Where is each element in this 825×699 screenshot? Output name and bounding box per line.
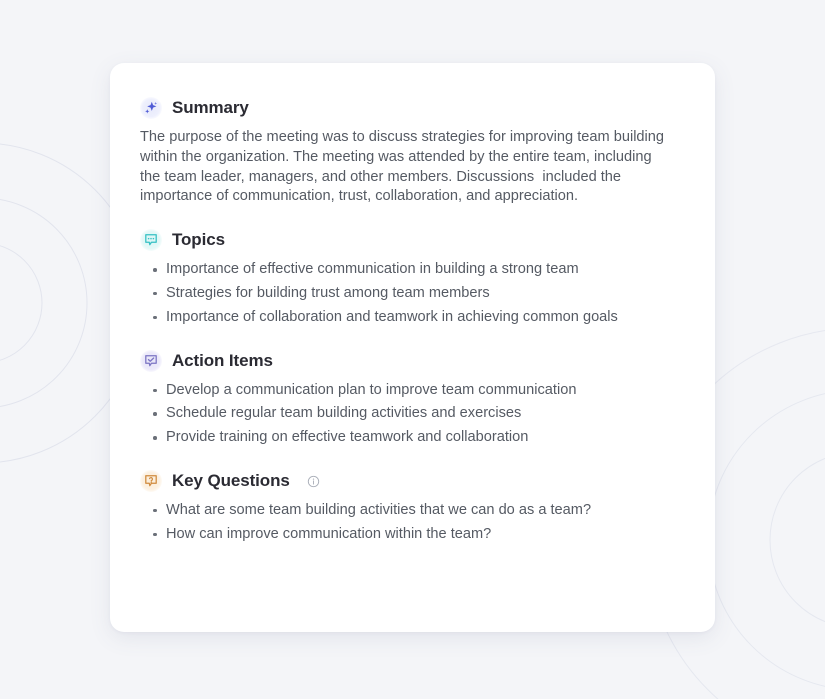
summary-paragraph: The purpose of the meeting was to discus… <box>140 128 665 207</box>
list-item: Schedule regular team building activitie… <box>140 404 660 424</box>
decor-circle-left-1 <box>0 243 42 363</box>
section-header-action-items: Action Items <box>140 350 675 372</box>
action-items-list: Develop a communication plan to improve … <box>140 381 675 448</box>
section-title-topics: Topics <box>172 230 225 250</box>
section-summary: Summary The purpose of the meeting was t… <box>140 97 675 207</box>
section-action-items: Action Items Develop a communication pla… <box>140 350 675 448</box>
chat-bubble-check-icon <box>140 350 162 372</box>
section-header-summary: Summary <box>140 97 675 119</box>
section-title-key-questions: Key Questions <box>172 471 290 491</box>
info-circle-icon[interactable] <box>307 475 320 488</box>
decor-circle-right-2 <box>708 390 825 690</box>
list-item: Importance of effective communication in… <box>140 260 660 280</box>
decor-circle-left-2 <box>0 198 87 408</box>
decor-circle-right-1 <box>770 452 825 628</box>
list-item: Importance of collaboration and teamwork… <box>140 308 660 328</box>
section-key-questions: Key Questions What are some team buildin… <box>140 470 675 545</box>
section-header-key-questions: Key Questions <box>140 470 675 492</box>
section-title-action-items: Action Items <box>172 351 273 371</box>
meeting-summary-card: Summary The purpose of the meeting was t… <box>110 63 715 632</box>
chat-bubble-question-icon <box>140 470 162 492</box>
list-item: How can improve communication within the… <box>140 525 660 545</box>
key-questions-list: What are some team building activities t… <box>140 501 675 545</box>
section-topics: Topics Importance of effective communica… <box>140 229 675 327</box>
list-item: Develop a communication plan to improve … <box>140 381 660 401</box>
list-item: Strategies for building trust among team… <box>140 284 660 304</box>
topics-list: Importance of effective communication in… <box>140 260 675 327</box>
sparkle-icon <box>140 97 162 119</box>
section-header-topics: Topics <box>140 229 675 251</box>
list-item: Provide training on effective teamwork a… <box>140 428 660 448</box>
section-title-summary: Summary <box>172 98 249 118</box>
list-item: What are some team building activities t… <box>140 501 660 521</box>
chat-bubble-dots-icon <box>140 229 162 251</box>
